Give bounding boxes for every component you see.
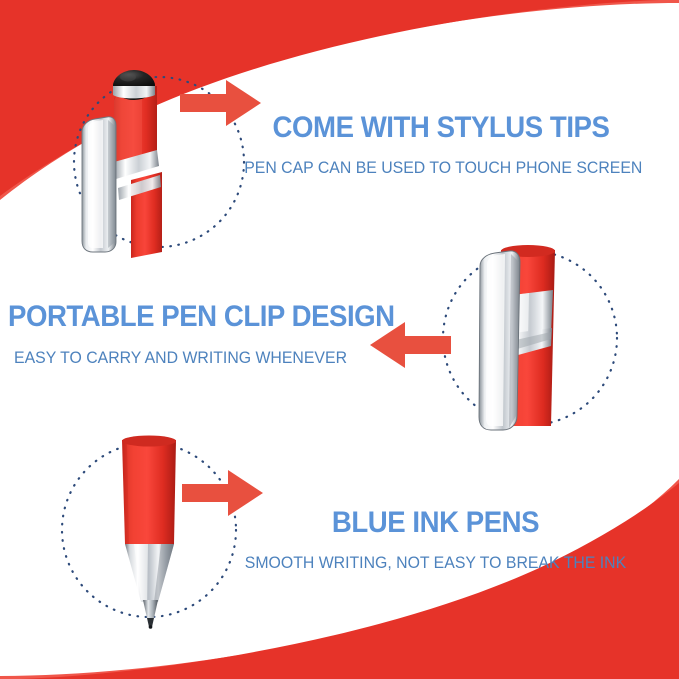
feature-subline-3: SMOOTH WRITING, NOT EASY TO BREAK THE IN… — [236, 555, 634, 572]
feature-headline-2: PORTABLE PEN CLIP DESIGN — [8, 302, 367, 332]
feature-block-blue-ink: BLUE INK PENS SMOOTH WRITING, NOT EASY T… — [0, 420, 679, 650]
feature-block-pen-clip: PORTABLE PEN CLIP DESIGN EASY TO CARRY A… — [0, 230, 679, 450]
pen-clip-closeup-illustration — [425, 238, 640, 443]
feature-subline-2: EASY TO CARRY AND WRITING WHENEVER — [14, 350, 383, 367]
feature-headline-3: BLUE INK PENS — [245, 508, 627, 538]
feature-block-stylus-tips: COME WITH STYLUS TIPS PEN CAP CAN BE USE… — [0, 0, 679, 260]
feature-text-blue-ink: BLUE INK PENS SMOOTH WRITING, NOT EASY T… — [228, 508, 643, 572]
feature-text-stylus-tips: COME WITH STYLUS TIPS PEN CAP CAN BE USE… — [236, 113, 646, 177]
feature-headline-1: COME WITH STYLUS TIPS — [252, 113, 629, 143]
product-infographic: COME WITH STYLUS TIPS PEN CAP CAN BE USE… — [0, 0, 679, 679]
feature-subline-1: PEN CAP CAN BE USED TO TOUCH PHONE SCREE… — [244, 160, 638, 177]
feature-text-pen-clip: PORTABLE PEN CLIP DESIGN EASY TO CARRY A… — [8, 302, 398, 367]
